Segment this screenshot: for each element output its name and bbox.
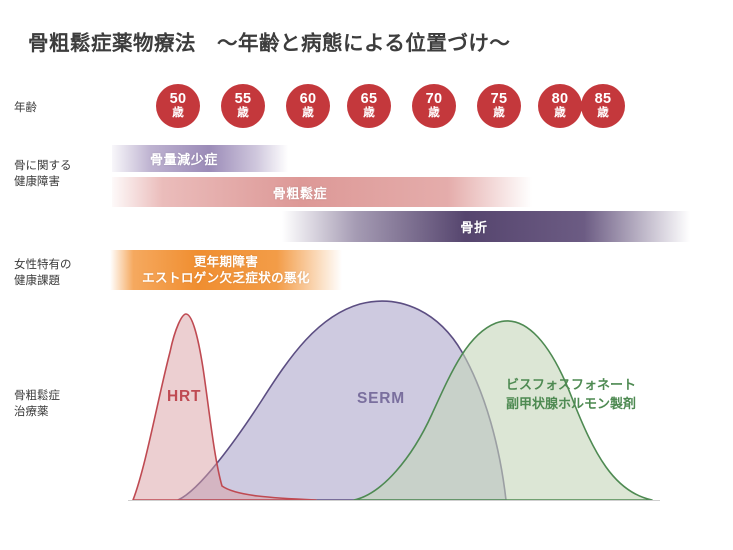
age-marker-unit: 歳 [156,107,200,120]
condition-bar-label: 骨粗鬆症 [273,183,327,202]
condition-bar-label: 骨折 [460,217,487,236]
age-marker-unit: 歳 [412,107,456,120]
row-label-age: 年齢 [14,100,37,116]
page-title: 骨粗鬆症薬物療法 ～年齢と病態による位置づけ～ [28,26,510,56]
infographic-canvas: 骨粗鬆症薬物療法 ～年齢と病態による位置づけ～ 年齢 骨に関する 健康障害 女性… [0,0,733,550]
age-marker-80: 80 歳 [538,84,582,128]
age-marker-unit: 歳 [347,107,391,120]
age-marker-value: 50 [156,92,200,106]
age-marker-value: 75 [477,92,521,106]
age-marker-50: 50 歳 [156,84,200,128]
age-marker-value: 80 [538,92,582,106]
condition-bar-osteopenia: 骨量減少症 [112,145,288,172]
menopause-bar-label-line1: 更年期障害 [194,254,259,270]
menopause-bar-label-line2: エストロゲン欠乏症状の悪化 [142,270,310,286]
row-label-bone-health-line2: 健康障害 [14,174,72,190]
condition-bar-fracture: 骨折 [282,211,690,242]
age-marker-unit: 歳 [538,107,582,120]
age-marker-unit: 歳 [286,107,330,120]
age-marker-value: 85 [581,92,625,106]
row-label-female-health-line1: 女性特有の [14,257,72,273]
row-label-female-health: 女性特有の 健康課題 [14,257,72,289]
row-label-female-health-line2: 健康課題 [14,273,72,289]
age-marker-55: 55 歳 [221,84,265,128]
age-marker-unit: 歳 [221,107,265,120]
age-marker-value: 70 [412,92,456,106]
condition-bar-menopause: 更年期障害 エストロゲン欠乏症状の悪化 [110,250,342,290]
age-marker-65: 65 歳 [347,84,391,128]
age-marker-75: 75 歳 [477,84,521,128]
row-label-bone-health: 骨に関する 健康障害 [14,158,72,190]
condition-bar-osteoporosis: 骨粗鬆症 [112,177,532,207]
row-label-bone-health-line1: 骨に関する [14,158,72,174]
age-marker-value: 65 [347,92,391,106]
age-marker-value: 55 [221,92,265,106]
age-marker-60: 60 歳 [286,84,330,128]
age-marker-value: 60 [286,92,330,106]
age-marker-unit: 歳 [477,107,521,120]
drug-usage-curves [0,290,733,515]
age-marker-unit: 歳 [581,107,625,120]
condition-bar-label: 骨量減少症 [150,149,218,168]
age-marker-70: 70 歳 [412,84,456,128]
age-marker-85: 85 歳 [581,84,625,128]
